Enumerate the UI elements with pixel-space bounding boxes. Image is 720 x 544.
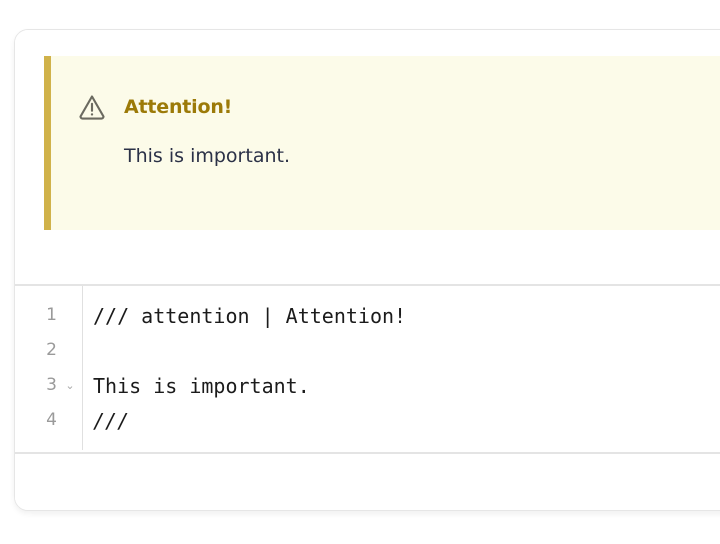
code-line-row[interactable]: 1 /// attention | Attention! [15,298,720,333]
admonition-body-text: This is important. [51,122,720,168]
source-editor-pane: 1 /// attention | Attention! 2 3 ⌄ This … [15,286,720,510]
code-area[interactable]: 1 /// attention | Attention! 2 3 ⌄ This … [15,286,720,454]
line-number: 4 [15,412,61,429]
code-line-text: /// [79,411,129,431]
code-line-row[interactable]: 3 ⌄ This is important. [15,368,720,403]
line-number: 1 [15,307,61,324]
code-line-row[interactable]: 2 [15,333,720,368]
rendered-output-pane: Attention! This is important. [15,30,720,286]
line-number: 2 [15,342,61,359]
admonition-attention: Attention! This is important. [44,56,720,230]
chevron-down-icon[interactable]: ⌄ [61,380,79,391]
code-line-text: /// attention | Attention! [79,306,406,326]
admonition-title: Attention! [124,98,232,117]
line-number: 3 [15,377,61,394]
screenshot-viewport: Attention! This is important. 1 /// atte… [0,0,720,544]
warning-triangle-icon [77,92,107,122]
markdown-preview-card: Attention! This is important. 1 /// atte… [14,29,720,511]
code-line-row[interactable]: 4 /// [15,403,720,438]
editor-footer [15,454,720,506]
code-line-text: This is important. [79,376,310,396]
admonition-header: Attention! [51,56,720,122]
